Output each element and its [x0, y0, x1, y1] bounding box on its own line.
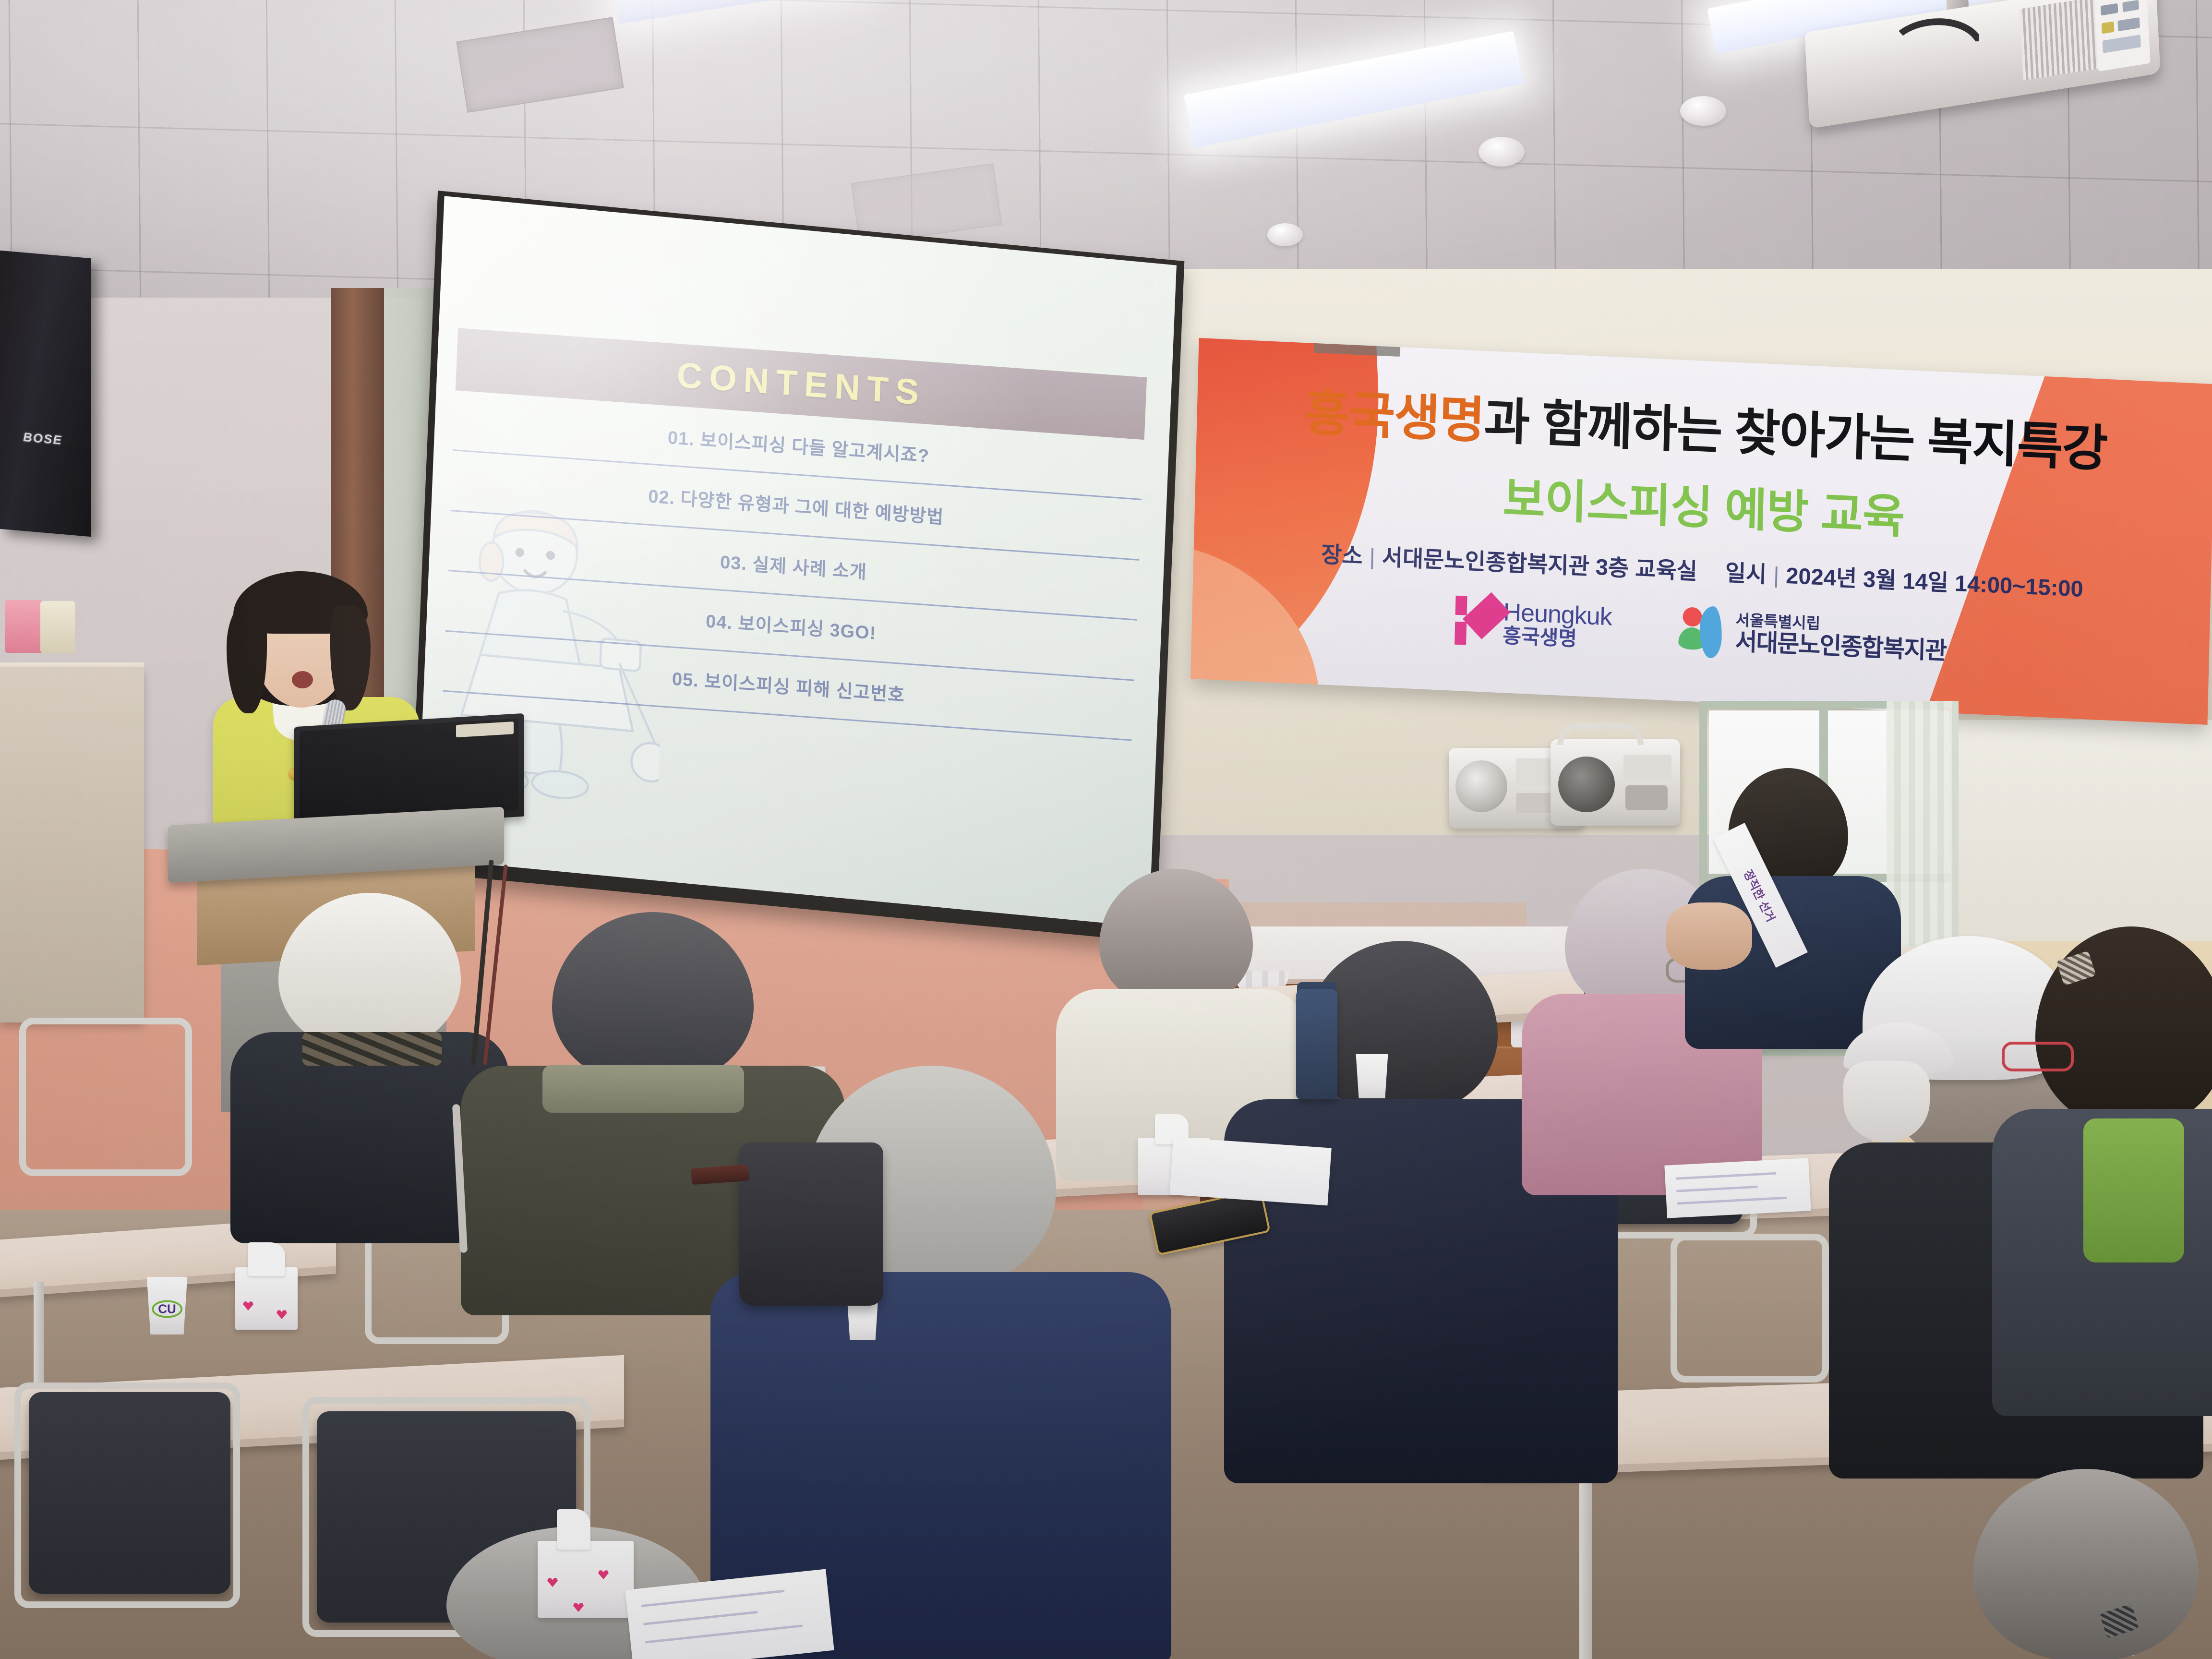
slide-item-label: 01. 보이스피싱 다들 알고계시죠? — [667, 422, 930, 468]
attendee-hair — [2035, 926, 2212, 1128]
attendee-red-glasses — [2007, 926, 2212, 1407]
attendee-bottom-right — [1973, 1469, 2212, 1659]
handbag[interactable] — [739, 1142, 883, 1306]
slide-contents-list: 01. 보이스피싱 다들 알고계시죠? 02. 다양한 유형과 그에 대한 예방… — [437, 391, 1144, 864]
attendee-scarf — [302, 1032, 442, 1066]
attendee-green-top — [2083, 1118, 2184, 1262]
attendee-hair — [278, 893, 461, 1051]
banner-date-label: 일시 — [1725, 560, 1767, 587]
presenter-hair-right — [330, 605, 371, 710]
radio-display-panel — [1623, 755, 1671, 780]
projection-screen: CONTENTS 01. 보이스피싱 다들 알고계시죠? 02. 다양한 유형과… — [409, 191, 1185, 942]
water-tumbler[interactable] — [1296, 989, 1337, 1099]
slide-item-label: 04. 보이스피싱 3GO! — [705, 606, 877, 645]
event-banner: 흥국생명과 함께하는 찾아가는 복지특강 보이스피싱 예방 교육 장소|서대문노… — [1190, 338, 2212, 725]
slide-item-label: 05. 보이스피싱 피해 신고번호 — [672, 664, 905, 707]
presentation-slide: CONTENTS 01. 보이스피싱 다들 알고계시죠? 02. 다양한 유형과… — [417, 196, 1177, 927]
tissue-box[interactable] — [235, 1267, 298, 1330]
attendee-hair — [552, 912, 754, 1085]
chair-right-2[interactable] — [1671, 1234, 1829, 1382]
tissue-sheet — [557, 1509, 590, 1550]
seodaemun-symbol-icon — [1678, 604, 1726, 660]
ceiling-dome-fixture — [1479, 137, 1525, 167]
chair-front-left-frame[interactable] — [14, 1382, 240, 1608]
seodaemun-logo: 서울특별시립 서대문노인종합복지관 — [1678, 604, 1947, 670]
banner-separator: | — [1362, 543, 1382, 570]
handout-paper[interactable] — [1664, 1158, 1811, 1218]
radio-speaker-icon — [1558, 757, 1615, 812]
cassette-door[interactable] — [1625, 785, 1668, 810]
banner-title-brand: 흥국생명 — [1304, 385, 1485, 449]
radio-handle — [1557, 723, 1644, 745]
screen-surface: CONTENTS 01. 보이스피싱 다들 알고계시죠? 02. 다양한 유형과… — [417, 196, 1177, 927]
heungkuk-diamond-icon — [1455, 594, 1493, 649]
classroom-scene: BOSE — [0, 0, 2212, 1659]
tissue-packet[interactable] — [538, 1541, 634, 1618]
screen-frame: CONTENTS 01. 보이스피싱 다들 알고계시죠? 02. 다양한 유형과… — [409, 191, 1185, 942]
boombox-speaker-icon — [1455, 760, 1507, 812]
presenter-mouth — [292, 671, 313, 688]
ceiling-dome-fixture — [1680, 96, 1726, 126]
banner-date-value: 2024년 3월 14일 14:00~15:00 — [1786, 563, 2084, 601]
attendee-hair — [1973, 1469, 2199, 1659]
attendee-clasped-hands — [1666, 902, 1752, 970]
handout-paper[interactable] — [1169, 1137, 1332, 1206]
slide-item-label: 03. 실제 사례 소개 — [720, 547, 867, 584]
paper-cup[interactable]: CU — [144, 1277, 190, 1334]
beige-container — [40, 601, 75, 653]
red-eyeglasses — [2002, 1042, 2074, 1071]
presenter-hair-left — [227, 603, 267, 713]
pink-container — [5, 600, 43, 653]
slide-item-label: 02. 다양한 유형과 그에 대한 예방방법 — [648, 481, 944, 529]
slide-header-text: CONTENTS — [676, 355, 926, 413]
attendee-collar — [542, 1065, 744, 1113]
cassette-radio[interactable] — [1551, 739, 1680, 826]
chair-back-left[interactable] — [19, 1018, 192, 1176]
banner-place-label: 장소 — [1321, 541, 1363, 569]
bose-logo: BOSE — [16, 431, 69, 447]
face-mask — [1843, 1061, 1930, 1142]
bose-wall-speaker: BOSE — [0, 251, 91, 537]
side-cabinet[interactable] — [0, 667, 144, 1022]
heungkuk-logo: Heungkuk 흥국생명 — [1455, 594, 1612, 655]
ceiling-dome-fixture — [1267, 223, 1303, 246]
paper-cup-small[interactable] — [1354, 1054, 1390, 1098]
banner-separator: | — [1767, 562, 1786, 588]
cu-brand-logo: CU — [152, 1300, 182, 1318]
tissue-sheet — [248, 1242, 285, 1276]
table-leg — [1579, 1459, 1592, 1659]
banner-place-value: 서대문노인종합복지관 3층 교육실 — [1382, 544, 1697, 584]
